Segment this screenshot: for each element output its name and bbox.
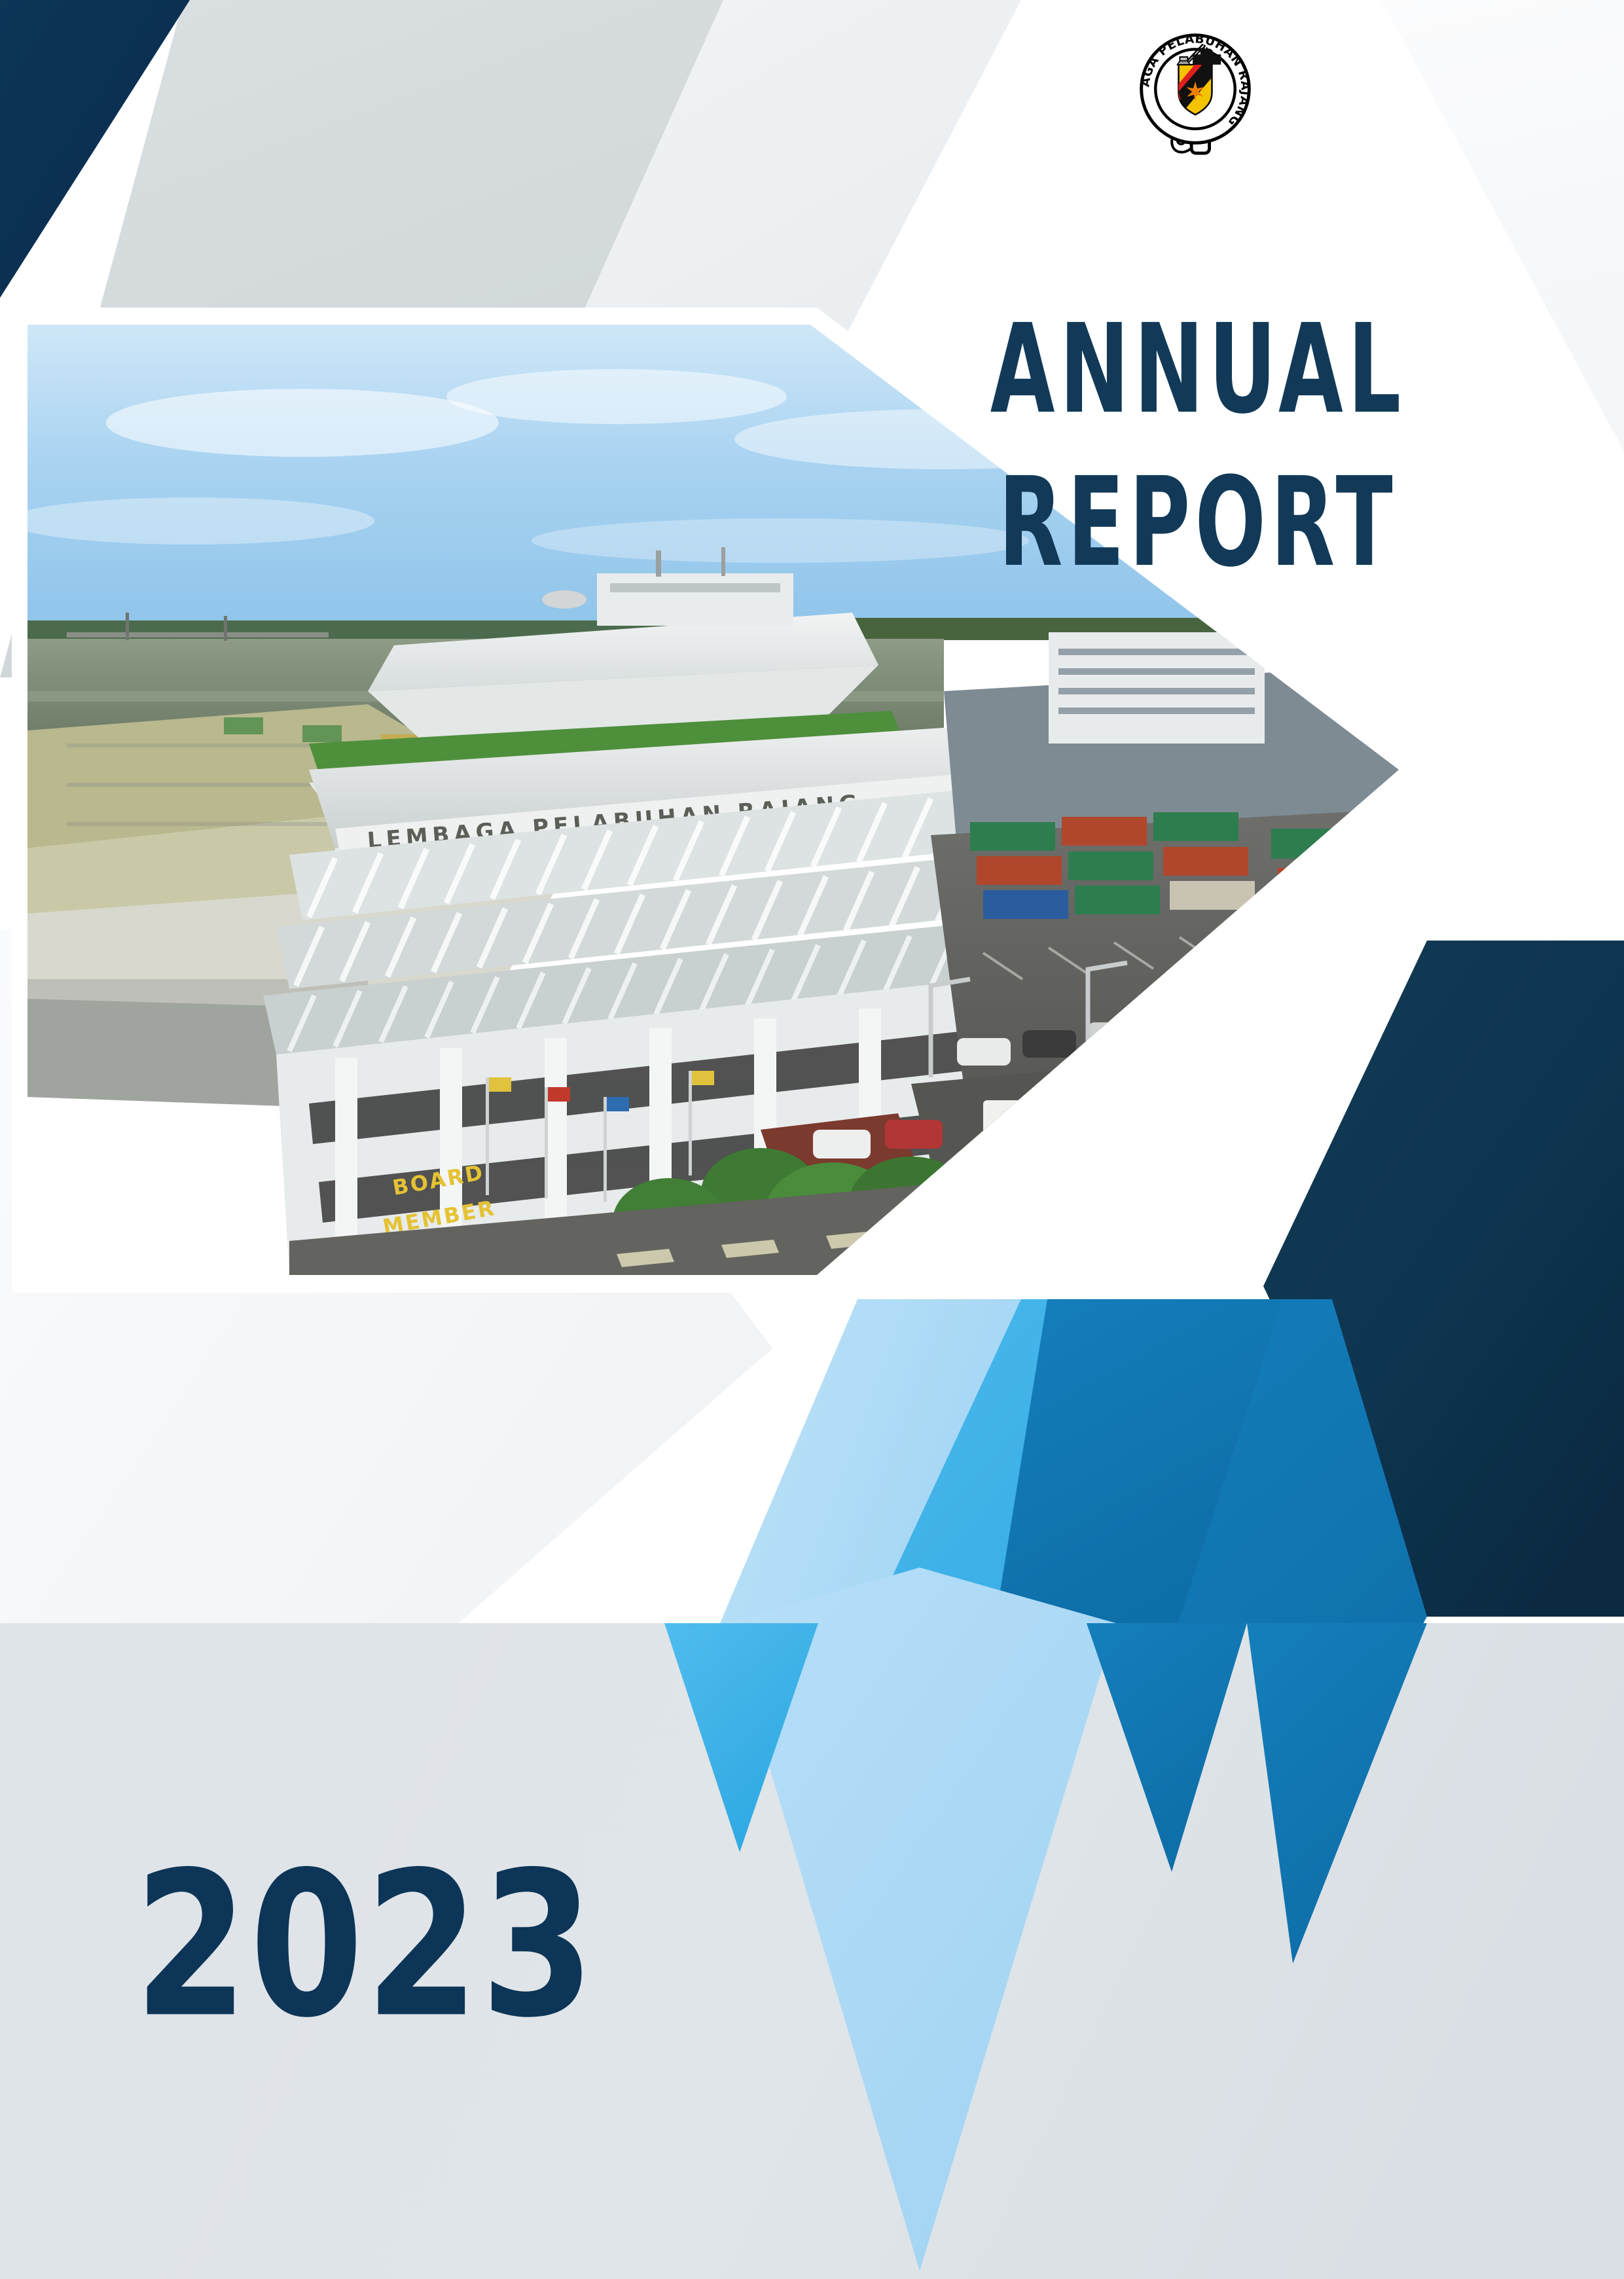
- svg-text:SIN YANG: SIN YANG: [1101, 1111, 1233, 1134]
- lembaga-pelabuhan-rajang-logo-icon: LEMBAGA PELABUHAN RAJANG: [1131, 25, 1259, 156]
- organization-logo: LEMBAGA PELABUHAN RAJANG: [1131, 25, 1259, 156]
- cover-title-block: ANNUAL REPORT: [903, 308, 1492, 571]
- title-line-annual: ANNUAL: [974, 308, 1422, 431]
- annual-report-cover-page: LEMBAGA PELABUHAN RAJANG: [0, 0, 1624, 2279]
- report-year: 2023: [134, 1846, 596, 2045]
- title-line-report: REPORT: [974, 461, 1422, 584]
